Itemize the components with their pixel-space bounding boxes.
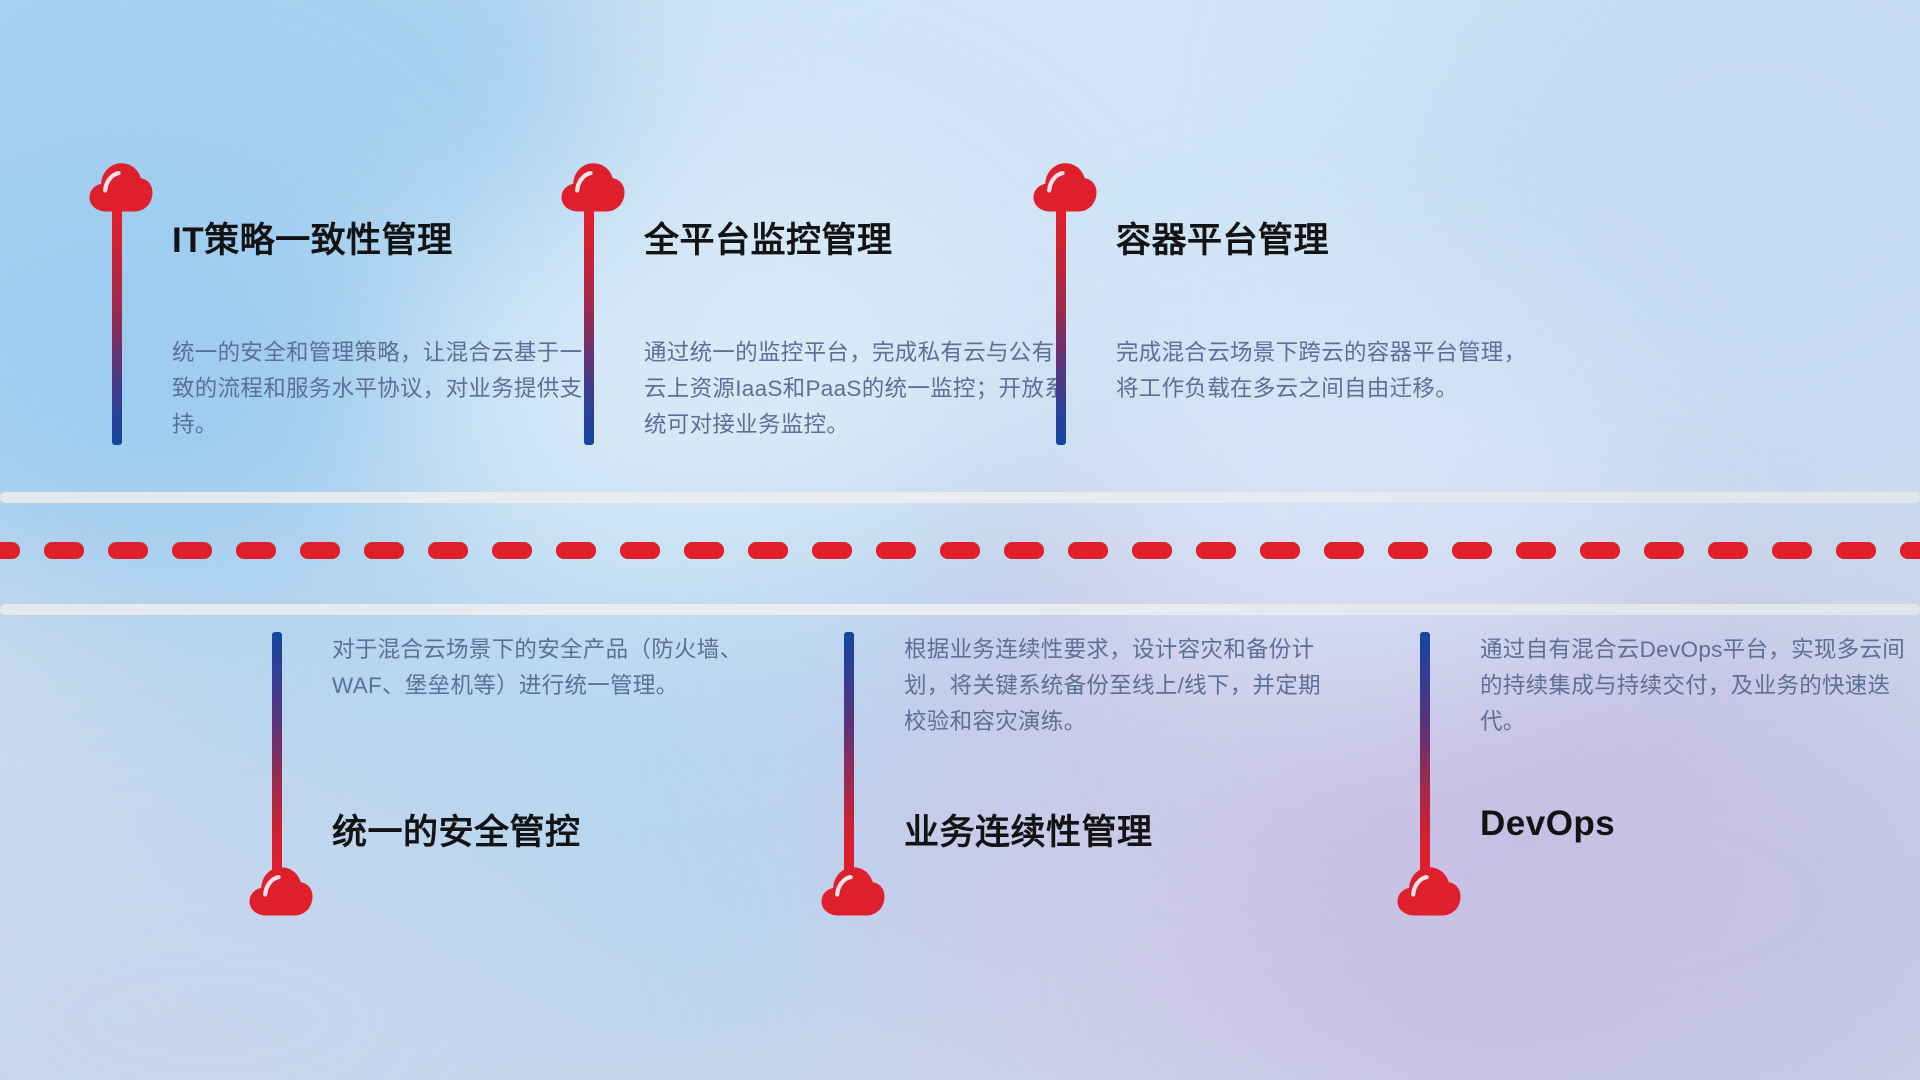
- road-dash: [428, 542, 468, 559]
- road-dash: [492, 542, 532, 559]
- road-dash: [1708, 542, 1748, 559]
- cloud-icon: [88, 160, 154, 212]
- road-dash: [1068, 542, 1108, 559]
- feature-body: 完成混合云场景下跨云的容器平台管理，将工作负载在多云之间自由迁移。: [1116, 335, 1546, 407]
- feature-body: 通过自有混合云DevOps平台，实现多云间的持续集成与持续交付，及业务的快速迭代…: [1480, 632, 1910, 740]
- road-dash: [940, 542, 980, 559]
- road-dash: [1900, 542, 1920, 559]
- road-dash: [236, 542, 276, 559]
- cloud-icon: [1396, 864, 1462, 916]
- road-dash: [1452, 542, 1492, 559]
- feature-title: 业务连续性管理: [904, 804, 1153, 855]
- road-dash: [556, 542, 596, 559]
- road-dash: [44, 542, 84, 559]
- feature-body: 根据业务连续性要求，设计容灾和备份计划，将关键系统备份至线上/线下，并定期校验和…: [904, 632, 1334, 740]
- road-dash: [0, 542, 20, 559]
- feature-body: 对于混合云场景下的安全产品（防火墙、WAF、堡垒机等）进行统一管理。: [332, 632, 762, 704]
- road-dash: [812, 542, 852, 559]
- road-dash: [1644, 542, 1684, 559]
- road-dash: [1196, 542, 1236, 559]
- connector-stem: [844, 632, 854, 872]
- cloud-icon: [248, 864, 314, 916]
- connector-stem: [1420, 632, 1430, 872]
- connector-stem: [584, 205, 594, 445]
- road-dash: [1132, 542, 1172, 559]
- feature-title: 统一的安全管控: [332, 804, 581, 855]
- road-dash: [1004, 542, 1044, 559]
- road-dash: [364, 542, 404, 559]
- road-dash: [1260, 542, 1300, 559]
- feature-body: 通过统一的监控平台，完成私有云与公有云上资源IaaS和PaaS的统一监控；开放系…: [644, 335, 1074, 443]
- road-dash: [748, 542, 788, 559]
- road-dash: [108, 542, 148, 559]
- road-dash: [1324, 542, 1364, 559]
- road-center-dashes: [0, 542, 1920, 559]
- road-dash: [172, 542, 212, 559]
- feature-body: 统一的安全和管理策略，让混合云基于一致的流程和服务水平协议，对业务提供支持。: [172, 335, 602, 443]
- cloud-icon: [820, 864, 886, 916]
- connector-stem: [1056, 205, 1066, 445]
- road-rail-top: [0, 492, 1920, 503]
- road-dash: [876, 542, 916, 559]
- cloud-icon: [1032, 160, 1098, 212]
- road-rail-bottom: [0, 604, 1920, 615]
- road-dash: [1516, 542, 1556, 559]
- road-dash: [684, 542, 724, 559]
- road-dash: [620, 542, 660, 559]
- feature-title: 全平台监控管理: [644, 212, 893, 263]
- road-dash: [1836, 542, 1876, 559]
- road-dash: [1580, 542, 1620, 559]
- cloud-icon: [560, 160, 626, 212]
- feature-title: IT策略一致性管理: [172, 212, 453, 263]
- road-dash: [1772, 542, 1812, 559]
- feature-title: 容器平台管理: [1116, 212, 1329, 263]
- connector-stem: [272, 632, 282, 872]
- feature-title: DevOps: [1480, 804, 1615, 844]
- road-dash: [300, 542, 340, 559]
- connector-stem: [112, 205, 122, 445]
- road-dash: [1388, 542, 1428, 559]
